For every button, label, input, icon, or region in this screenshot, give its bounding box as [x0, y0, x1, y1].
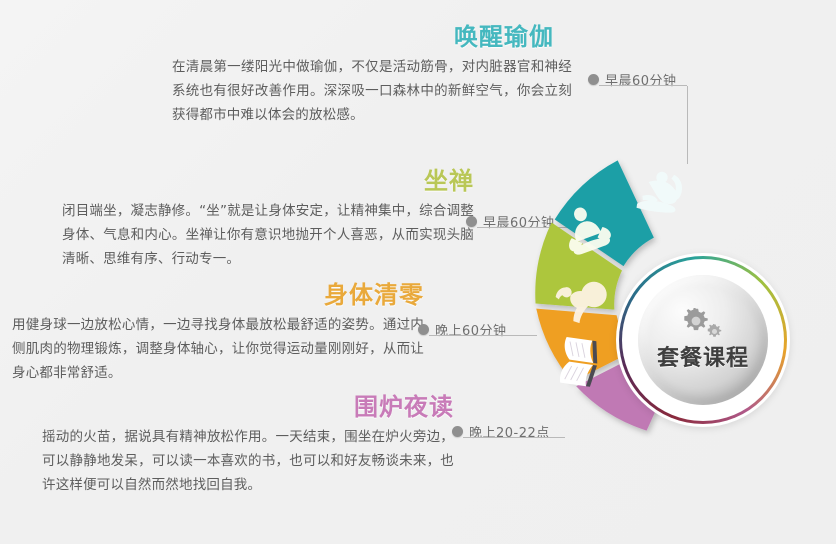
connector-awaken-yoga: 早晨60分钟: [588, 70, 677, 88]
hub-label: 套餐课程: [657, 340, 749, 372]
gear-icon-large: [683, 308, 709, 334]
section-body: 摇动的火苗，据说具有精神放松作用。一天结束，围坐在炉火旁边，可以静静地发呆，可以…: [42, 426, 454, 497]
infographic-poster: 唤醒瑜伽 在清晨第一缕阳光中做瑜伽，不仅是活动筋骨，对内脏器官和神经系统也有很好…: [0, 0, 836, 544]
connector-line: [599, 85, 687, 86]
hub-sphere: 套餐课程: [638, 275, 768, 405]
section-title: 坐禅: [62, 168, 474, 194]
section-body: 闭目端坐，凝志静修。“坐”就是让身体安定，让精神集中，综合调整身体、气息和内心。…: [62, 200, 474, 271]
connector-dot-icon: [588, 74, 599, 85]
center-hub: 套餐课程: [616, 253, 790, 427]
section-fireside-reading: 围炉夜读 摇动的火苗，据说具有精神放松作用。一天结束，围坐在炉火旁边，可以静静地…: [42, 394, 454, 497]
gear-icon-small: [707, 324, 722, 339]
section-title: 唤醒瑜伽: [454, 24, 572, 50]
section-title: 围炉夜读: [42, 394, 454, 420]
section-zen-sitting: 坐禅 闭目端坐，凝志静修。“坐”就是让身体安定，让精神集中，综合调整身体、气息和…: [62, 168, 474, 271]
yoga-pose-icon: [636, 169, 684, 215]
hub-gears: [677, 308, 729, 342]
section-body-reset: 身体清零 用健身球一边放松心情，一边寻找身体最放松最舒适的姿势。通过内侧肌肉的物…: [12, 282, 424, 385]
section-title: 身体清零: [12, 282, 424, 308]
section-awaken-yoga: 唤醒瑜伽 在清晨第一缕阳光中做瑜伽，不仅是活动筋骨，对内脏器官和神经系统也有很好…: [172, 24, 572, 127]
section-body: 用健身球一边放松心情，一边寻找身体最放松最舒适的姿势。通过内侧肌肉的物理锻炼，调…: [12, 314, 424, 385]
section-body: 在清晨第一缕阳光中做瑜伽，不仅是活动筋骨，对内脏器官和神经系统也有很好改善作用。…: [172, 56, 572, 127]
connector-dot-icon: [418, 324, 429, 335]
